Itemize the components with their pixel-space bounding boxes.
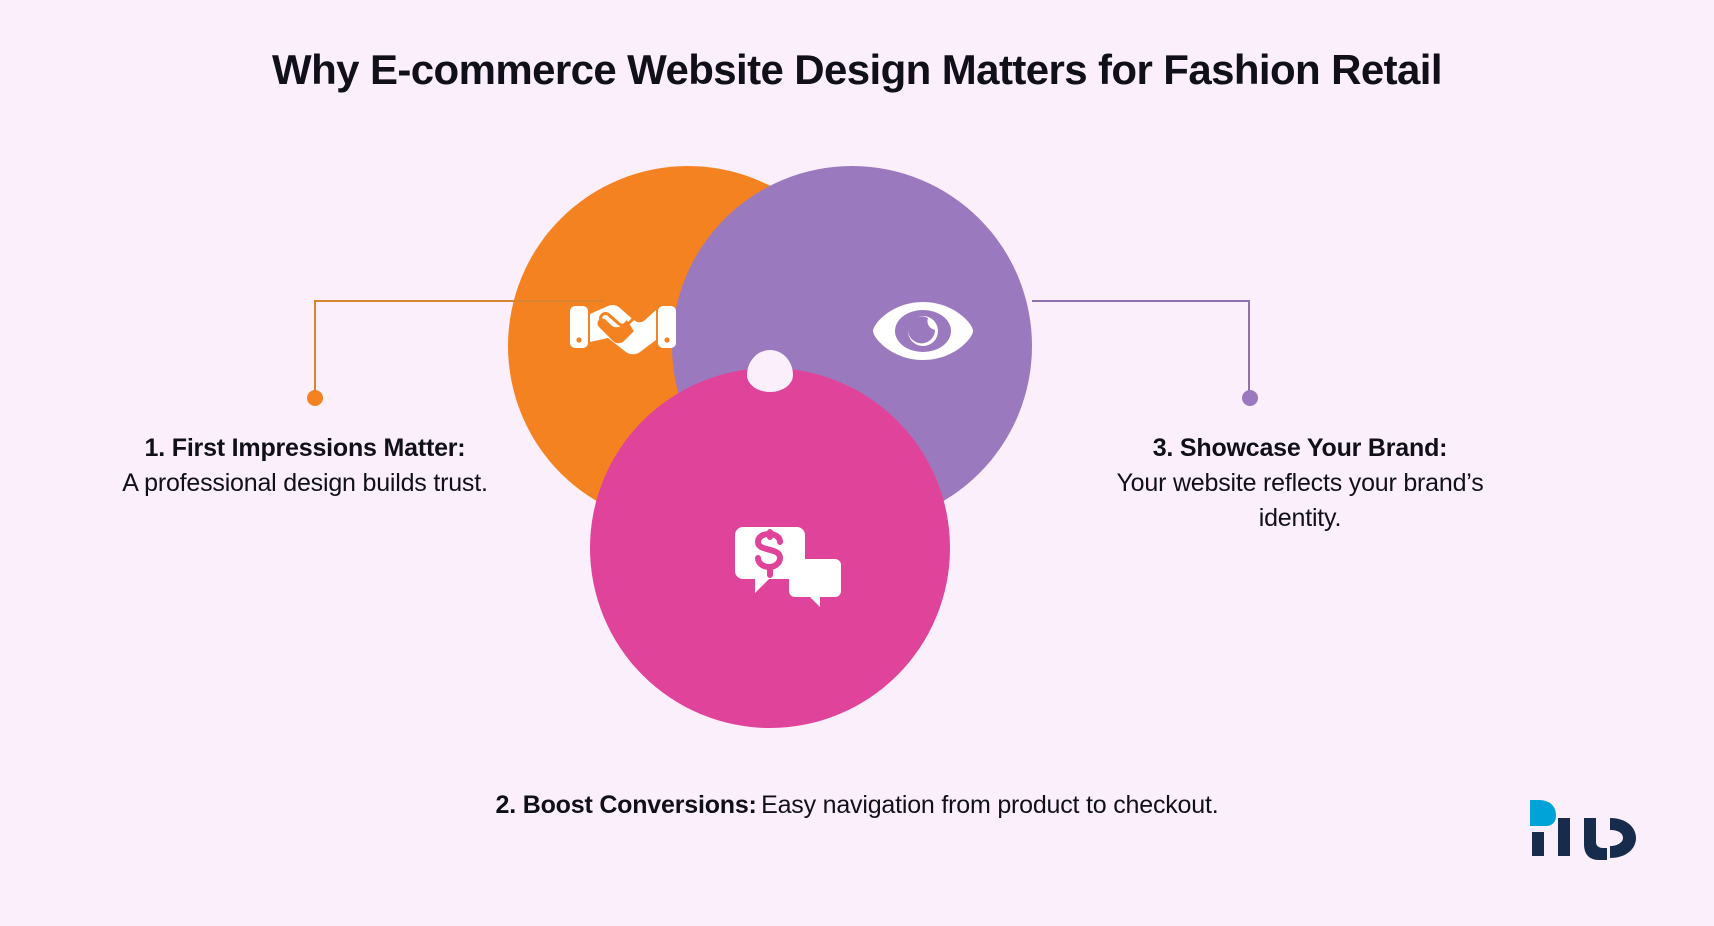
connector-dot-bottom: [777, 711, 793, 727]
callout-heading: 1. First Impressions Matter:: [70, 432, 540, 466]
callout-boost-conversions: 2. Boost Conversions: Easy navigation fr…: [307, 788, 1407, 824]
connector-dot-left: [307, 390, 323, 406]
connector-line-left: [314, 300, 604, 400]
page-title: Why E-commerce Website Design Matters fo…: [0, 46, 1714, 94]
infographic-canvas: Why E-commerce Website Design Matters fo…: [0, 0, 1714, 926]
connector-dot-right: [1242, 390, 1258, 406]
callout-heading: 2. Boost Conversions:: [496, 791, 757, 819]
callout-description: A professional design builds trust.: [70, 466, 540, 502]
callout-heading: 3. Showcase Your Brand:: [1090, 432, 1510, 466]
venn-center-intersection: [747, 350, 793, 392]
money-chat-icon: [735, 525, 843, 613]
callout-description: Easy navigation from product to checkout…: [761, 791, 1218, 819]
brand-logo: [1524, 788, 1664, 868]
callout-description: Your website reflects your brand’s ident…: [1090, 466, 1510, 537]
callout-showcase-brand: 3. Showcase Your Brand: Your website ref…: [1090, 432, 1510, 537]
connector-line-right: [1032, 300, 1250, 400]
eye-icon: [870, 300, 976, 362]
callout-first-impressions: 1. First Impressions Matter: A professio…: [70, 432, 540, 501]
